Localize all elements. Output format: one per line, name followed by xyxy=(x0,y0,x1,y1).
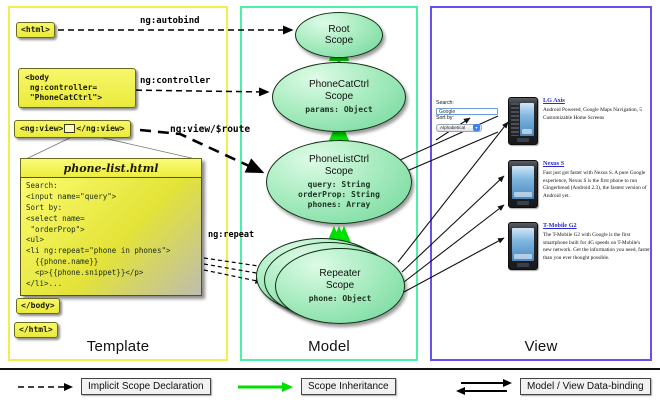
legend-label: Scope Inheritance xyxy=(301,378,396,395)
scope-phonelistctrl-props: query: String orderProp: String phones: … xyxy=(298,180,380,210)
tag-body: <body ng:controller= "PhoneCatCtrl"> xyxy=(18,68,136,108)
phone-list-item[interactable]: LG Axis Android Powered, Google Maps Nav… xyxy=(508,97,650,145)
scope-repeater-props: phone: Object xyxy=(309,294,372,304)
phone-snippet: Fast just got faster with Nexus S. A pur… xyxy=(543,170,650,200)
scope-root-name-1: Root xyxy=(328,24,349,35)
tag-html: <html> xyxy=(16,22,55,38)
phone-name-link[interactable]: LG Axis xyxy=(543,97,650,104)
legend-item-scope-inheritance: Scope Inheritance xyxy=(236,378,396,395)
phone-snippet: Android Powered, Google Maps Navigation,… xyxy=(543,107,650,122)
scope-repeater-name-1: Repeater xyxy=(319,268,360,279)
search-label: Search: xyxy=(436,100,502,108)
scope-repeater-name-2: Scope xyxy=(326,280,354,291)
ng-view-slot-icon xyxy=(64,124,75,133)
search-input[interactable]: Google xyxy=(436,108,498,115)
phone-thumbnail-icon xyxy=(508,160,538,208)
scope-phonelistctrl-name-2: Scope xyxy=(325,166,353,177)
sort-label: Sort by: xyxy=(436,115,502,123)
legend-item-model-view-data-binding: Model / View Data-binding xyxy=(455,378,651,395)
edge-label-ng-view-route: ng:view/$route xyxy=(170,124,250,135)
edge-label-ng-repeat: ng:repeat xyxy=(208,230,254,240)
phone-name-link[interactable]: T-Mobile G2 xyxy=(543,222,650,229)
scope-root-name-2: Scope xyxy=(325,35,353,46)
ng-view-close: </ng:view> xyxy=(76,124,124,133)
tag-body-close: </body> xyxy=(16,298,60,314)
legend: Implicit Scope Declaration Scope Inherit… xyxy=(0,368,660,407)
scope-phonecatctrl-name-2: Scope xyxy=(325,91,353,102)
scope-phonecatctrl-props: params: Object xyxy=(305,105,372,115)
scope-phonecatctrl: PhoneCatCtrl Scope params: Object xyxy=(272,62,406,132)
double-arrow-icon xyxy=(455,379,513,395)
legend-label: Implicit Scope Declaration xyxy=(81,378,211,395)
phone-list-item[interactable]: T-Mobile G2 The T-Mobile G2 with Google … xyxy=(508,222,650,270)
scope-phonecatctrl-name-1: PhoneCatCtrl xyxy=(309,79,369,90)
phone-snippet: The T-Mobile G2 with Google is the first… xyxy=(543,232,650,262)
green-arrow-icon xyxy=(236,381,294,393)
callout-code: Search: <input name="query"> Sort by: <s… xyxy=(20,177,202,296)
sort-select[interactable]: Alphabetical ▾ xyxy=(436,124,482,132)
phone-thumbnail-icon xyxy=(508,222,538,270)
phone-name-link[interactable]: Nexus S xyxy=(543,160,650,167)
tag-html-close: </html> xyxy=(14,322,58,338)
tag-ng-view: <ng:view></ng:view> xyxy=(14,120,131,138)
dashed-arrow-icon xyxy=(16,381,74,393)
chevron-down-icon: ▾ xyxy=(473,124,480,131)
phone-list-callout: phone-list.html Search: <input name="que… xyxy=(20,158,202,296)
edge-label-ng-autobind: ng:autobind xyxy=(140,16,200,26)
scope-repeater: Repeater Scope phone: Object xyxy=(275,248,405,324)
ng-view-open: <ng:view> xyxy=(20,124,63,133)
search-form: Search: Google Sort by: Alphabetical ▾ xyxy=(436,100,502,132)
column-label-template: Template xyxy=(10,338,226,355)
callout-title: phone-list.html xyxy=(20,158,202,177)
edge-label-ng-controller: ng:controller xyxy=(140,76,210,86)
phone-list-item[interactable]: Nexus S Fast just got faster with Nexus … xyxy=(508,160,650,208)
diagram-stage: Template Model View xyxy=(0,0,660,405)
phone-thumbnail-icon xyxy=(508,97,538,145)
legend-label: Model / View Data-binding xyxy=(520,378,651,395)
scope-phonelistctrl: PhoneListCtrl Scope query: String orderP… xyxy=(266,140,412,224)
sort-select-value: Alphabetical xyxy=(440,125,473,130)
column-label-model: Model xyxy=(242,338,416,355)
scope-phonelistctrl-name-1: PhoneListCtrl xyxy=(309,154,369,165)
legend-item-implicit-scope-declaration: Implicit Scope Declaration xyxy=(16,378,211,395)
column-label-view: View xyxy=(432,338,650,355)
scope-root: Root Scope xyxy=(295,12,383,58)
